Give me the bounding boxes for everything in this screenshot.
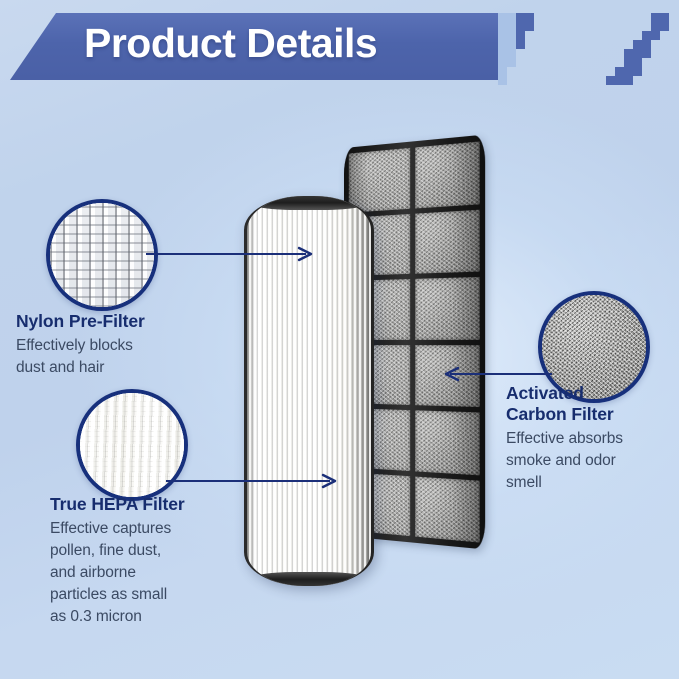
pixel-square bbox=[498, 76, 507, 85]
pixel-square bbox=[525, 13, 534, 22]
pixel-square bbox=[624, 67, 633, 76]
callout-activated-carbon-filter: Activated Carbon Filter Effective absorb… bbox=[506, 383, 679, 494]
pixel-square bbox=[651, 13, 660, 22]
pixel-square bbox=[498, 31, 507, 40]
callout-title: Nylon Pre-Filter bbox=[16, 311, 231, 332]
pixel-square bbox=[516, 22, 525, 31]
pixel-square bbox=[633, 67, 642, 76]
nylon-mesh-texture bbox=[50, 203, 154, 307]
header-banner: Product Details bbox=[0, 0, 679, 100]
pixel-square bbox=[507, 31, 516, 40]
callout-title: Activated Carbon Filter bbox=[506, 383, 679, 425]
pixel-square bbox=[606, 76, 615, 85]
page-title: Product Details bbox=[84, 20, 377, 67]
pixel-square bbox=[498, 40, 507, 49]
pixel-square bbox=[642, 40, 651, 49]
callout-title: True HEPA Filter bbox=[50, 494, 255, 515]
hepa-top-cap bbox=[247, 196, 371, 210]
carbon-cell bbox=[415, 410, 480, 475]
callout-body: Effective absorbs smoke and odor smell bbox=[506, 428, 679, 494]
pixel-dissolve-decoration bbox=[498, 13, 679, 81]
pixel-square bbox=[660, 13, 669, 22]
pixel-square bbox=[507, 13, 516, 22]
pixel-square bbox=[516, 40, 525, 49]
carbon-cell bbox=[415, 141, 480, 208]
pixel-square bbox=[633, 49, 642, 58]
nylon-pre-filter-swatch bbox=[46, 199, 158, 311]
pixel-square bbox=[615, 67, 624, 76]
pixel-square bbox=[615, 76, 624, 85]
pixel-square bbox=[507, 40, 516, 49]
pixel-square bbox=[507, 49, 516, 58]
pixel-square bbox=[651, 22, 660, 31]
callout-true-hepa-filter: True HEPA Filter Effective captures poll… bbox=[50, 494, 255, 628]
pixel-square bbox=[525, 22, 534, 31]
pixel-square bbox=[642, 49, 651, 58]
pixel-square bbox=[516, 31, 525, 40]
pixel-square bbox=[624, 49, 633, 58]
pixel-square bbox=[507, 22, 516, 31]
pixel-square bbox=[651, 31, 660, 40]
pixel-square bbox=[624, 76, 633, 85]
pixel-square bbox=[660, 22, 669, 31]
pixel-square bbox=[498, 67, 507, 76]
pixel-square bbox=[633, 40, 642, 49]
pixel-square bbox=[498, 22, 507, 31]
infographic-canvas: Product Details Nylon Pre-Filter Effecti… bbox=[0, 0, 679, 679]
nylon-pre-filter-arrow bbox=[144, 240, 320, 268]
callout-nylon-pre-filter: Nylon Pre-Filter Effectively blocks dust… bbox=[16, 311, 231, 379]
pixel-square bbox=[624, 58, 633, 67]
pixel-square bbox=[633, 58, 642, 67]
callout-body: Effectively blocks dust and hair bbox=[16, 335, 231, 379]
true-hepa-filter-arrow bbox=[164, 467, 344, 495]
pixel-square bbox=[642, 31, 651, 40]
callout-body: Effective captures pollen, fine dust, an… bbox=[50, 518, 255, 628]
carbon-cell bbox=[415, 476, 480, 543]
pixel-square bbox=[498, 13, 507, 22]
pixel-square bbox=[516, 13, 525, 22]
carbon-cell bbox=[415, 209, 480, 274]
pixel-square bbox=[498, 58, 507, 67]
carbon-cell bbox=[415, 277, 480, 339]
pixel-square bbox=[507, 58, 516, 67]
hepa-bottom-cap bbox=[247, 572, 371, 586]
pixel-square bbox=[498, 49, 507, 58]
